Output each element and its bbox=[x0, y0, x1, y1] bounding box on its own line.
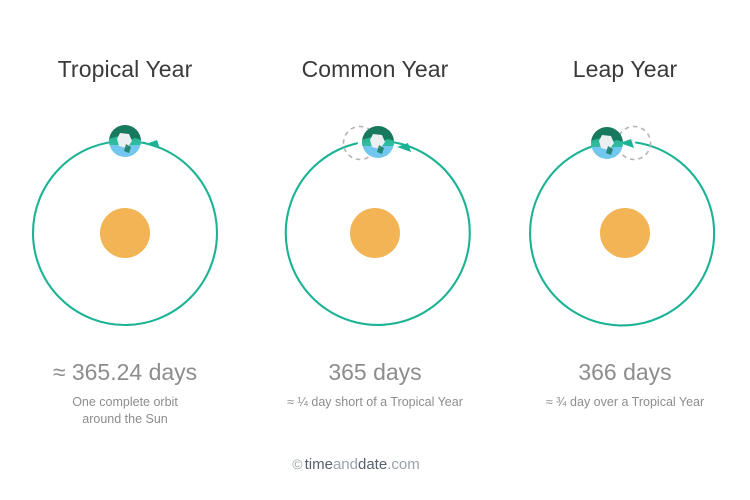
credit-line: ©timeanddate.com bbox=[0, 455, 750, 474]
note-line: One complete orbit bbox=[12, 394, 238, 411]
panel-value: 365 days bbox=[250, 358, 500, 386]
panel-note: One complete orbit around the Sun bbox=[0, 394, 250, 428]
panel-tropical-year: Tropical Year bbox=[0, 0, 250, 440]
note-line: ≈ ¼ day short of a Tropical Year bbox=[262, 394, 488, 411]
panel-title: Common Year bbox=[250, 56, 500, 82]
panel-note: ≈ ¾ day over a Tropical Year bbox=[500, 394, 750, 411]
panel-title: Tropical Year bbox=[0, 56, 250, 82]
note-line: ≈ ¾ day over a Tropical Year bbox=[512, 394, 738, 411]
note-line: around the Sun bbox=[12, 411, 238, 428]
earth-icon bbox=[361, 125, 395, 159]
orbit-arrow-icon bbox=[146, 140, 160, 149]
copyright-icon: © bbox=[292, 456, 302, 472]
sun-icon bbox=[350, 208, 400, 258]
credit-part-date: date bbox=[358, 456, 387, 473]
orbit-diagram bbox=[0, 108, 250, 343]
panel-leap-year: Leap Year bbox=[500, 0, 750, 440]
credit-part-time: time bbox=[305, 456, 333, 473]
panel-value: ≈ 365.24 days bbox=[0, 358, 250, 386]
earth-icon bbox=[590, 126, 624, 160]
earth-icon bbox=[108, 124, 142, 158]
sun-icon bbox=[600, 208, 650, 258]
panel-note: ≈ ¼ day short of a Tropical Year bbox=[250, 394, 500, 411]
orbit-diagram bbox=[500, 108, 750, 343]
panel-title: Leap Year bbox=[500, 56, 750, 82]
panel-common-year: Common Year bbox=[250, 0, 500, 440]
leap-year-infographic: Tropical Year bbox=[0, 0, 750, 500]
sun-icon bbox=[100, 208, 150, 258]
credit-part-and: and bbox=[333, 456, 358, 473]
panel-row: Tropical Year bbox=[0, 0, 750, 440]
orbit-diagram bbox=[250, 108, 500, 343]
credit-part-com: .com bbox=[387, 456, 420, 473]
panel-value: 366 days bbox=[500, 358, 750, 386]
